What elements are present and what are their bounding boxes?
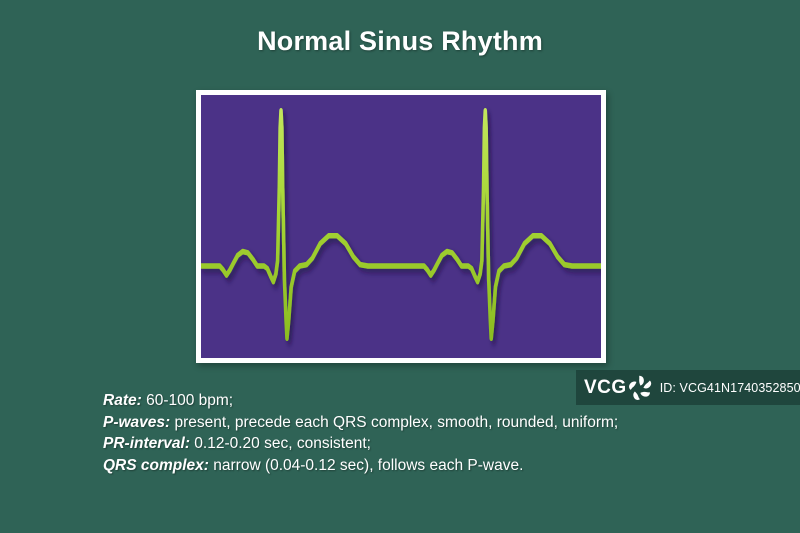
legend-label-p-waves: P-waves:	[103, 414, 170, 431]
legend-line-qrs-complex: QRS complex: narrow (0.04-0.12 sec), fol…	[103, 455, 743, 477]
vcg-logo: VCG	[584, 373, 656, 403]
legend-value-qrs-complex: narrow (0.04-0.12 sec), follows each P-w…	[209, 457, 523, 474]
legend-label-pr-interval: PR-interval:	[103, 435, 190, 452]
vcg-wordmark: VCG	[584, 378, 627, 397]
legend-line-pr-interval: PR-interval: 0.12-0.20 sec, consistent;	[103, 433, 743, 455]
legend-value-rate: 60-100 bpm;	[142, 392, 233, 409]
legend-value-pr-interval: 0.12-0.20 sec, consistent;	[190, 435, 371, 452]
ecg-panel-frame	[196, 90, 606, 363]
legend-label-qrs-complex: QRS complex:	[103, 457, 209, 474]
legend-value-p-waves: present, precede each QRS complex, smoot…	[170, 414, 618, 431]
legend-label-rate: Rate:	[103, 392, 142, 409]
page-title: Normal Sinus Rhythm	[0, 26, 800, 57]
ecg-trace	[201, 111, 601, 338]
illustration-canvas: Normal Sinus Rhythm Rate: 60-10	[0, 0, 800, 533]
legend-line-p-waves: P-waves: present, precede each QRS compl…	[103, 412, 743, 434]
pinwheel-icon	[626, 373, 656, 403]
ecg-waveform-svg	[201, 95, 601, 358]
ecg-plot-area	[201, 95, 601, 358]
watermark-banner: VCG ID: VCG41N1740352850	[576, 370, 800, 405]
watermark-id: ID: VCG41N1740352850	[660, 381, 800, 395]
